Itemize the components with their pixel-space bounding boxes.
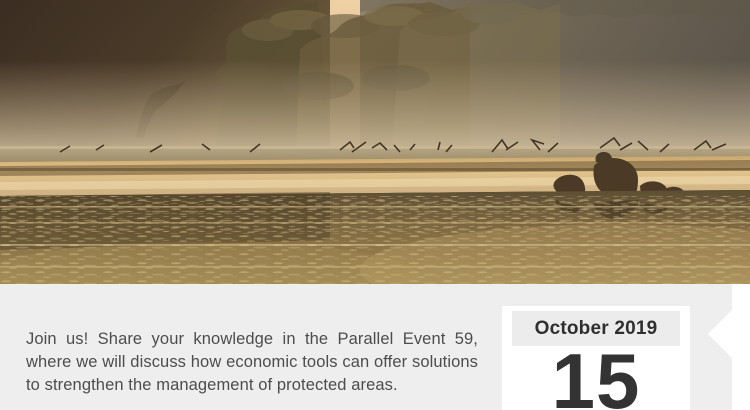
hero-photo-illustration — [0, 0, 750, 284]
promo-description: Join us! Share your knowledge in the Par… — [26, 328, 478, 398]
hero-photo — [0, 0, 750, 284]
event-promo-banner: Join us! Share your knowledge in the Par… — [0, 0, 750, 410]
event-day-number: 15 — [512, 342, 680, 410]
event-date-card: October 2019 15 — [502, 306, 690, 410]
